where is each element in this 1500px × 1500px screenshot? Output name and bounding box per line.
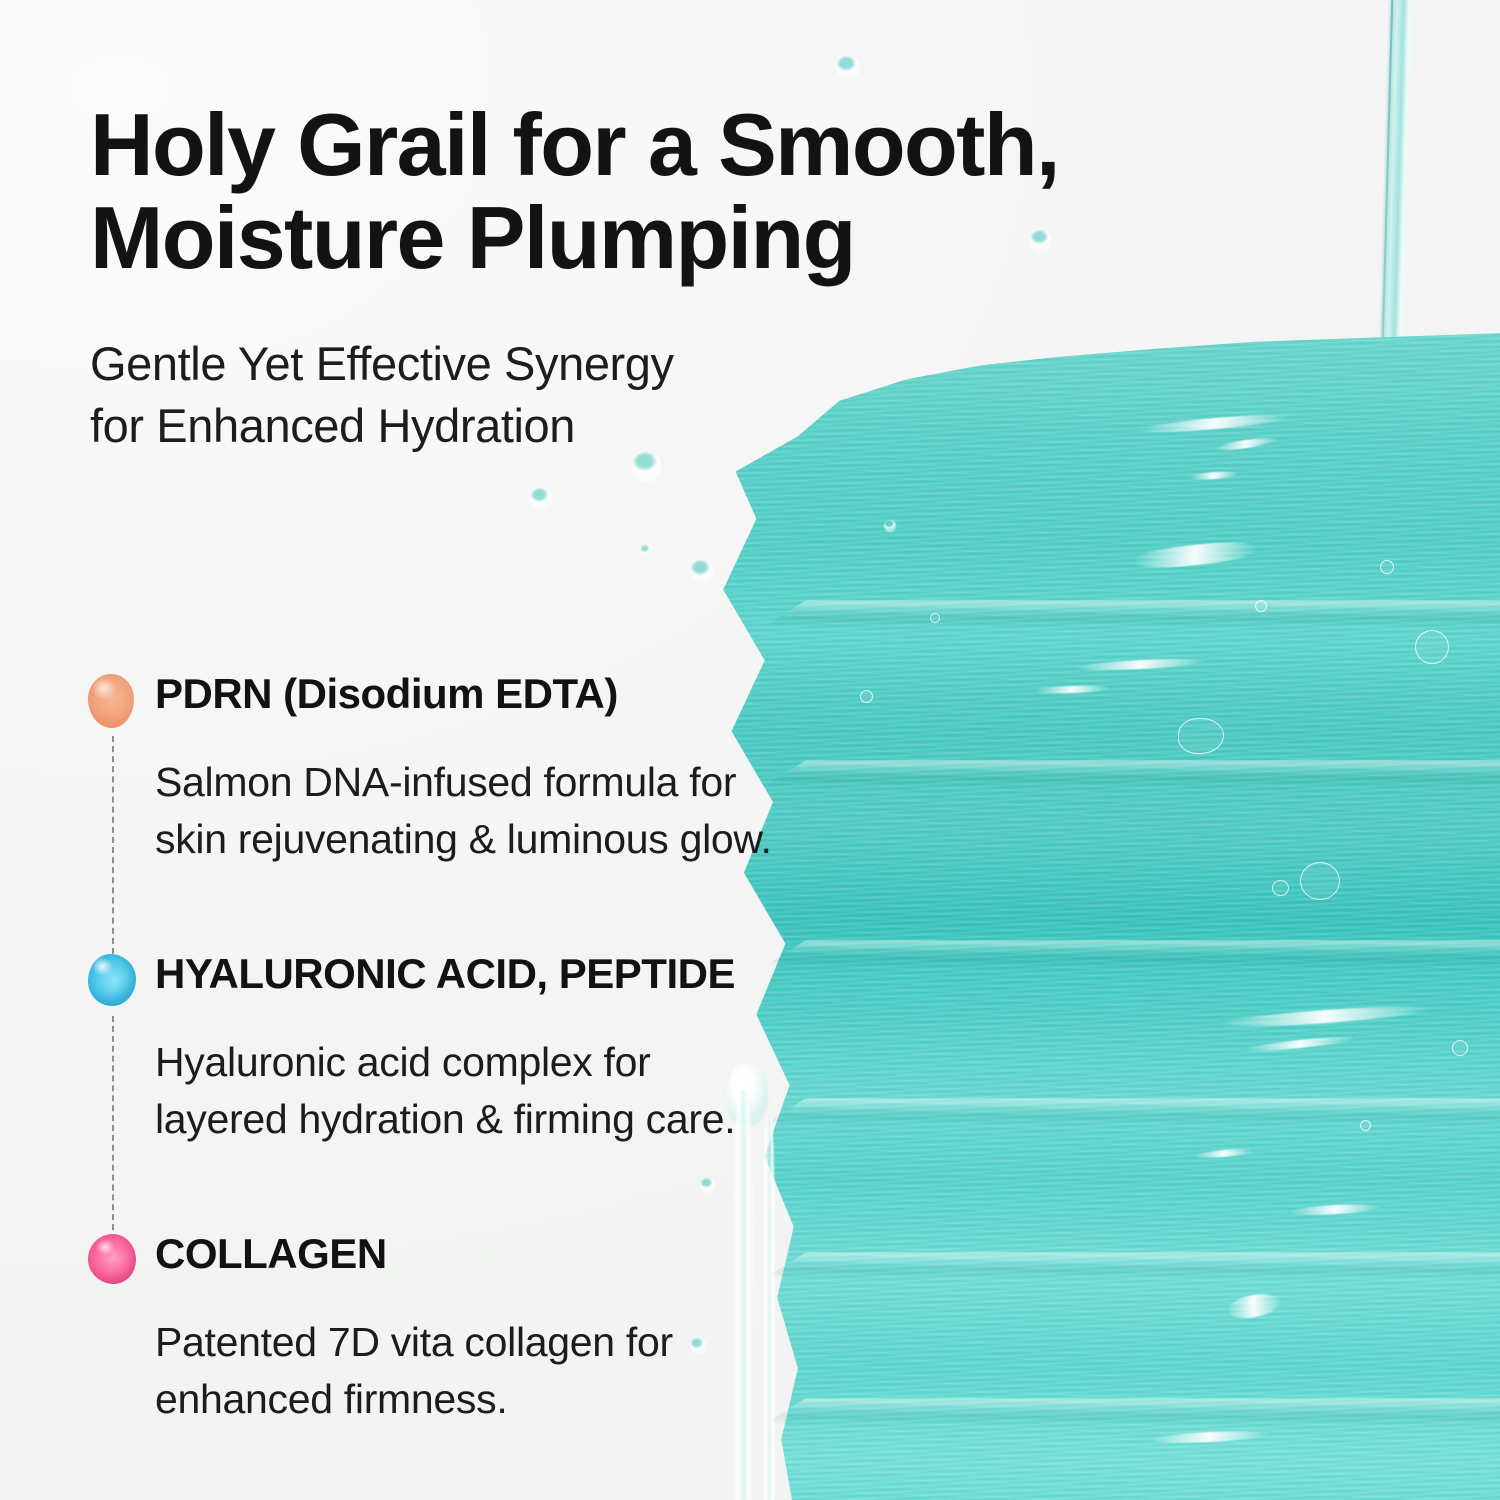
pink-blob-icon	[88, 1234, 138, 1292]
gel-highlight	[1290, 1203, 1380, 1217]
gel-highlight	[1075, 657, 1205, 673]
ingredient-desc-line-1: Salmon DNA-infused formula for	[155, 754, 772, 811]
ingredient-desc-line-2: enhanced firmness.	[155, 1371, 673, 1428]
gel-bubble	[1360, 1120, 1371, 1131]
gel-bubble	[1300, 862, 1340, 900]
glass-rod-icon	[1378, 0, 1415, 370]
gel-bubble	[1452, 1040, 1468, 1056]
gel-bubble	[1415, 630, 1449, 664]
gel-bubble	[1272, 880, 1289, 896]
ingredient-desc-line-1: Patented 7D vita collagen for	[155, 1314, 673, 1371]
ingredient-description: Patented 7D vita collagen for enhanced f…	[155, 1314, 673, 1427]
ingredient-desc-line-2: skin rejuvenating & luminous glow.	[155, 811, 772, 868]
ingredient-list: PDRN (Disodium EDTA) Salmon DNA-infused …	[0, 0, 900, 1500]
cyan-gem-droplet-icon	[88, 954, 138, 1012]
gel-highlight	[1220, 1003, 1430, 1031]
infographic-canvas: Holy Grail for a Smooth, Moisture Plumpi…	[0, 0, 1500, 1500]
ingredient-description: Hyaluronic acid complex for layered hydr…	[155, 1034, 735, 1147]
gel-highlight	[1035, 685, 1109, 695]
ingredient-description: Salmon DNA-infused formula for skin reju…	[155, 754, 772, 867]
ingredient-title: PDRN (Disodium EDTA)	[155, 670, 618, 718]
connector-line	[112, 736, 114, 964]
gel-highlight	[1134, 539, 1255, 571]
gel-bubble	[1380, 560, 1394, 574]
gel-highlight	[1215, 435, 1277, 453]
ingredient-title: HYALURONIC ACID, PEPTIDE	[155, 950, 735, 998]
ingredient-title: COLLAGEN	[155, 1230, 387, 1278]
glass-rod-edge	[1381, 0, 1394, 368]
ingredient-desc-line-1: Hyaluronic acid complex for	[155, 1034, 735, 1091]
text-column: Holy Grail for a Smooth, Moisture Plumpi…	[0, 0, 900, 1500]
peach-droplet-icon	[88, 674, 138, 732]
gel-bubble	[930, 613, 940, 623]
gel-highlight	[1190, 470, 1238, 480]
ingredient-desc-line-2: layered hydration & firming care.	[155, 1091, 735, 1148]
gel-highlight	[1150, 1429, 1268, 1445]
gel-bubble	[1255, 600, 1267, 612]
gel-highlight	[1195, 1147, 1253, 1159]
connector-line	[112, 1016, 114, 1240]
gel-highlight	[1226, 1291, 1281, 1322]
gel-bubble	[1178, 718, 1224, 754]
gel-highlight	[1245, 1034, 1355, 1053]
gel-highlight	[1140, 411, 1290, 435]
